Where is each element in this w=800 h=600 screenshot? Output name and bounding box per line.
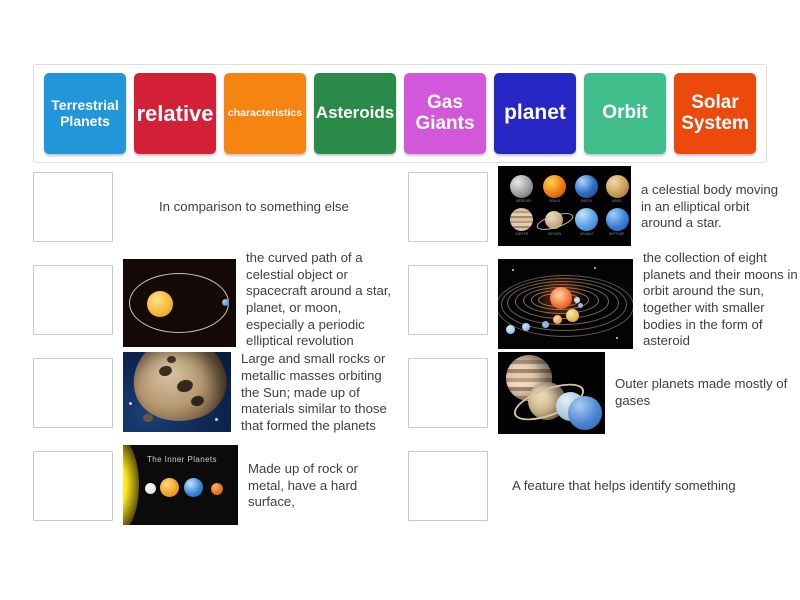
answer-row: A feature that helps identify something (408, 451, 800, 521)
mars-icon (606, 175, 629, 198)
tile-label: Orbit (602, 103, 647, 124)
answer-row: MERCURY VENUS EARTH MARS JUPITER SATURN … (408, 172, 800, 242)
dropzone-right-1[interactable] (408, 172, 488, 242)
gas-giants-image (498, 352, 605, 434)
match-up-board: In comparison to something else the curv… (0, 172, 800, 544)
tile-label: Asteroids (316, 104, 394, 122)
answer-description: the collection of eight planets and thei… (643, 250, 800, 350)
answer-description: a celestial body moving in an elliptical… (641, 182, 789, 232)
sun-icon (550, 287, 572, 309)
tile-characteristics[interactable]: characteristics (224, 73, 306, 154)
neptune-icon (606, 208, 629, 231)
dropzone-right-2[interactable] (408, 265, 488, 335)
venus-icon (160, 478, 179, 497)
answer-row: Outer planets made mostly of gases (408, 358, 800, 428)
inner-planets-image: The Inner Planets (123, 445, 238, 525)
earth-icon (575, 175, 598, 198)
jupiter-icon (510, 208, 533, 231)
image-caption: The Inner Planets (147, 455, 217, 464)
tile-label: Solar System (677, 93, 753, 134)
tile-label: Gas Giants (407, 93, 483, 134)
tile-asteroids[interactable]: Asteroids (314, 73, 396, 154)
answer-description: Outer planets made mostly of gases (615, 376, 790, 409)
answer-tile-tray: Terrestrial Planets relative characteris… (33, 64, 767, 163)
mercury-icon (510, 175, 533, 198)
tile-label: characteristics (228, 108, 302, 119)
uranus-icon (575, 208, 598, 231)
answer-description: A feature that helps identify something (512, 478, 736, 495)
tile-orbit[interactable]: Orbit (584, 73, 666, 154)
orbit-diagram-image (123, 259, 236, 347)
eight-planets-image: MERCURY VENUS EARTH MARS JUPITER SATURN … (498, 166, 631, 246)
right-answer-column: MERCURY VENUS EARTH MARS JUPITER SATURN … (0, 172, 800, 544)
tile-label: planet (504, 102, 566, 125)
solar-system-image (498, 259, 633, 349)
tile-relative[interactable]: relative (134, 73, 216, 154)
tile-label: relative (136, 102, 213, 126)
tile-terrestrial-planets[interactable]: Terrestrial Planets (44, 73, 126, 154)
tile-gas-giants[interactable]: Gas Giants (404, 73, 486, 154)
mercury-icon (145, 483, 156, 494)
planet-icon (222, 299, 229, 306)
tile-label: Terrestrial Planets (47, 98, 123, 128)
sun-icon (147, 291, 173, 317)
neptune-icon (568, 396, 602, 430)
asteroid-image (123, 352, 231, 432)
venus-icon (543, 175, 566, 198)
tile-solar-system[interactable]: Solar System (674, 73, 756, 154)
dropzone-right-4[interactable] (408, 451, 488, 521)
answer-row: the collection of eight planets and thei… (408, 265, 800, 335)
dropzone-right-3[interactable] (408, 358, 488, 428)
mars-icon (211, 483, 223, 495)
earth-icon (184, 478, 203, 497)
tile-planet[interactable]: planet (494, 73, 576, 154)
